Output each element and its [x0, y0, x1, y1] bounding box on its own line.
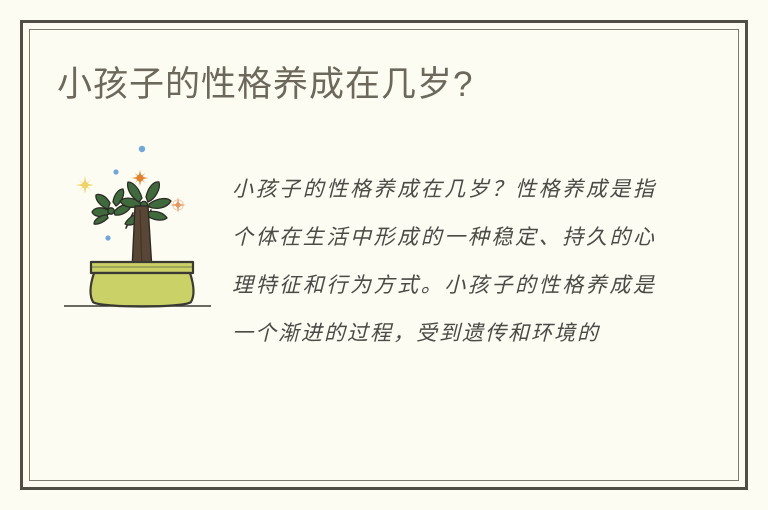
page-title: 小孩子的性格养成在几岁? — [57, 62, 473, 108]
sparkle-dot-blue-mid — [113, 169, 118, 174]
article-card: 小孩子的性格养成在几岁? — [0, 0, 768, 510]
leaf-cluster-left — [92, 189, 131, 224]
sparkle-dot-blue-top — [139, 146, 145, 152]
sparkle-star-peach — [170, 197, 186, 213]
sparkle-dot-blue-low — [105, 235, 110, 240]
article-paragraph: 小孩子的性格养成在几岁？性格养成是指个体在生活中形成的一种稳定、持久的心理特征和… — [232, 165, 656, 357]
sparkle-star-orange — [132, 170, 148, 186]
potted-plant-illustration — [56, 140, 216, 310]
plant-trunk — [132, 206, 152, 270]
sparkle-star-yellow — [76, 176, 94, 194]
flower-pot — [90, 262, 193, 307]
